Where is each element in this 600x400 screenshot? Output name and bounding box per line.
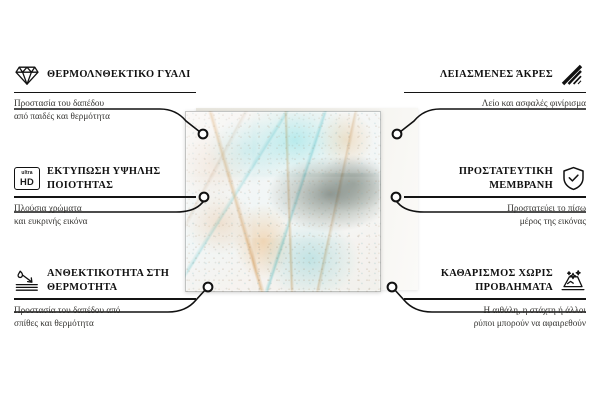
feature-membrane-title: ΠΡΟΣΤΑΤΕΥΤΙΚΗ ΜΕΜΒΡΑΝΗ <box>404 165 553 192</box>
feature-thermal-desc: Προστασία του δαπέδου από παιδές και θερ… <box>14 97 196 123</box>
feature-membrane-desc: Προστατεύει το πίσω μέρος της εικόνας <box>404 202 586 228</box>
feature-thermal-desc-line2: από παιδές και θερμότητα <box>14 110 196 123</box>
feature-edges: ΛΕΙΑΣΜΕΝΕΣ ΆΚΡΕΣ Λείο και ασφαλές φινίρι… <box>404 62 586 110</box>
feature-membrane-head: ΠΡΟΣΤΑΤΕΥΤΙΚΗ ΜΕΜΒΡΑΝΗ <box>404 165 586 192</box>
polished-edges-icon <box>560 62 586 88</box>
connector-dot-cleaning <box>388 283 397 292</box>
feature-edges-title: ΛΕΙΑΣΜΕΝΕΣ ΆΚΡΕΣ <box>440 68 553 82</box>
feature-heat-desc-line1: Προστασία του δαπέδου από <box>14 304 196 317</box>
feature-heat-head: ΑΝΘΕΚΤΙΚΟΤΗΤΑ ΣΤΗ ΘΕΡΜΟΤΗΤΑ <box>14 267 196 294</box>
feature-thermal-head: ΘΕΡΜΟΛΝΘΕΚΤΙΚΟ ΓΥΑΛΙ <box>14 62 196 88</box>
feature-cleaning-rule <box>404 298 586 299</box>
feature-thermal-title: ΘΕΡΜΟΛΝΘΕΚΤΙΚΟ ΓΥΑΛΙ <box>47 68 191 82</box>
feature-heat: ΑΝΘΕΚΤΙΚΟΤΗΤΑ ΣΤΗ ΘΕΡΜΟΤΗΤΑ Προστασία το… <box>14 267 196 330</box>
feature-cleaning-title: ΚΑΘΑΡΙΣΜΟΣ ΧΩΡΙΣ ΠΡΟΒΛΗΜΑΤΑ <box>404 267 553 294</box>
feature-cleaning-desc: Η αιθάλη, η στάχτη ή άλλοι ρύποι μπορούν… <box>404 304 586 330</box>
feature-edges-desc-line1: Λείο και ασφαλές φινίρισμα <box>404 97 586 110</box>
ultra-hd-icon: ultra HD <box>14 166 40 192</box>
feature-print: ultra HD ΕΚΤΥΠΩΣΗ ΥΨΗΛΗΣ ΠΟΙΟΤΗΤΑΣ Πλούσ… <box>14 165 196 228</box>
shield-check-icon <box>560 166 586 192</box>
connector-dot-thermal <box>199 130 208 139</box>
feature-thermal: ΘΕΡΜΟΛΝΘΕΚΤΙΚΟ ΓΥΑΛΙ Προστασία του δαπέδ… <box>14 62 196 123</box>
feature-cleaning-head: ΚΑΘΑΡΙΣΜΟΣ ΧΩΡΙΣ ΠΡΟΒΛΗΜΑΤΑ <box>404 267 586 294</box>
ultra-hd-badge-bottom: HD <box>20 177 34 186</box>
connector-dot-print <box>200 193 209 202</box>
feature-edges-head: ΛΕΙΑΣΜΕΝΕΣ ΆΚΡΕΣ <box>404 62 586 88</box>
feature-cleaning-desc-line2: ρύποι μπορούν να αφαιρεθούν <box>404 317 586 330</box>
connector-dot-edges <box>393 130 402 139</box>
feature-membrane: ΠΡΟΣΤΑΤΕΥΤΙΚΗ ΜΕΜΒΡΑΝΗ Προστατεύει το πί… <box>404 165 586 228</box>
feature-membrane-desc-line2: μέρος της εικόνας <box>404 215 586 228</box>
feature-edges-desc: Λείο και ασφαλές φινίρισμα <box>404 97 586 110</box>
feature-print-title: ΕΚΤΥΠΩΣΗ ΥΨΗΛΗΣ ΠΟΙΟΤΗΤΑΣ <box>47 165 196 192</box>
feature-heat-rule <box>14 298 196 299</box>
diamond-icon <box>14 62 40 88</box>
connector-dot-heat <box>204 283 213 292</box>
feature-cleaning: ΚΑΘΑΡΙΣΜΟΣ ΧΩΡΙΣ ΠΡΟΒΛΗΜΑΤΑ Η αιθάλη, η … <box>404 267 586 330</box>
feature-membrane-desc-line1: Προστατεύει το πίσω <box>404 202 586 215</box>
connector-edges <box>400 109 586 132</box>
infographic-stage: ΘΕΡΜΟΛΝΘΕΚΤΙΚΟ ΓΥΑΛΙ Προστασία του δαπέδ… <box>0 0 600 400</box>
feature-heat-title: ΑΝΘΕΚΤΙΚΟΤΗΤΑ ΣΤΗ ΘΕΡΜΟΤΗΤΑ <box>47 267 196 294</box>
feature-thermal-rule <box>14 92 196 93</box>
ultra-hd-badge: ultra HD <box>14 167 40 190</box>
connector-dot-membrane <box>392 193 401 202</box>
feature-print-head: ultra HD ΕΚΤΥΠΩΣΗ ΥΨΗΛΗΣ ΠΟΙΟΤΗΤΑΣ <box>14 165 196 192</box>
feature-cleaning-desc-line1: Η αιθάλη, η στάχτη ή άλλοι <box>404 304 586 317</box>
feature-heat-desc: Προστασία του δαπέδου από σπίθες και θερ… <box>14 304 196 330</box>
feature-print-desc-line1: Πλούσια χρώματα <box>14 202 196 215</box>
flame-resistance-icon <box>14 268 40 294</box>
feature-print-rule <box>14 196 196 197</box>
feature-print-desc: Πλούσια χρώματα και ευκρινής εικόνα <box>14 202 196 228</box>
feature-edges-rule <box>404 92 586 93</box>
feature-print-desc-line2: και ευκρινής εικόνα <box>14 215 196 228</box>
feature-thermal-desc-line1: Προστασία του δαπέδου <box>14 97 196 110</box>
easy-clean-sparkle-icon <box>560 268 586 294</box>
feature-membrane-rule <box>404 196 586 197</box>
feature-heat-desc-line2: σπίθες και θερμότητα <box>14 317 196 330</box>
